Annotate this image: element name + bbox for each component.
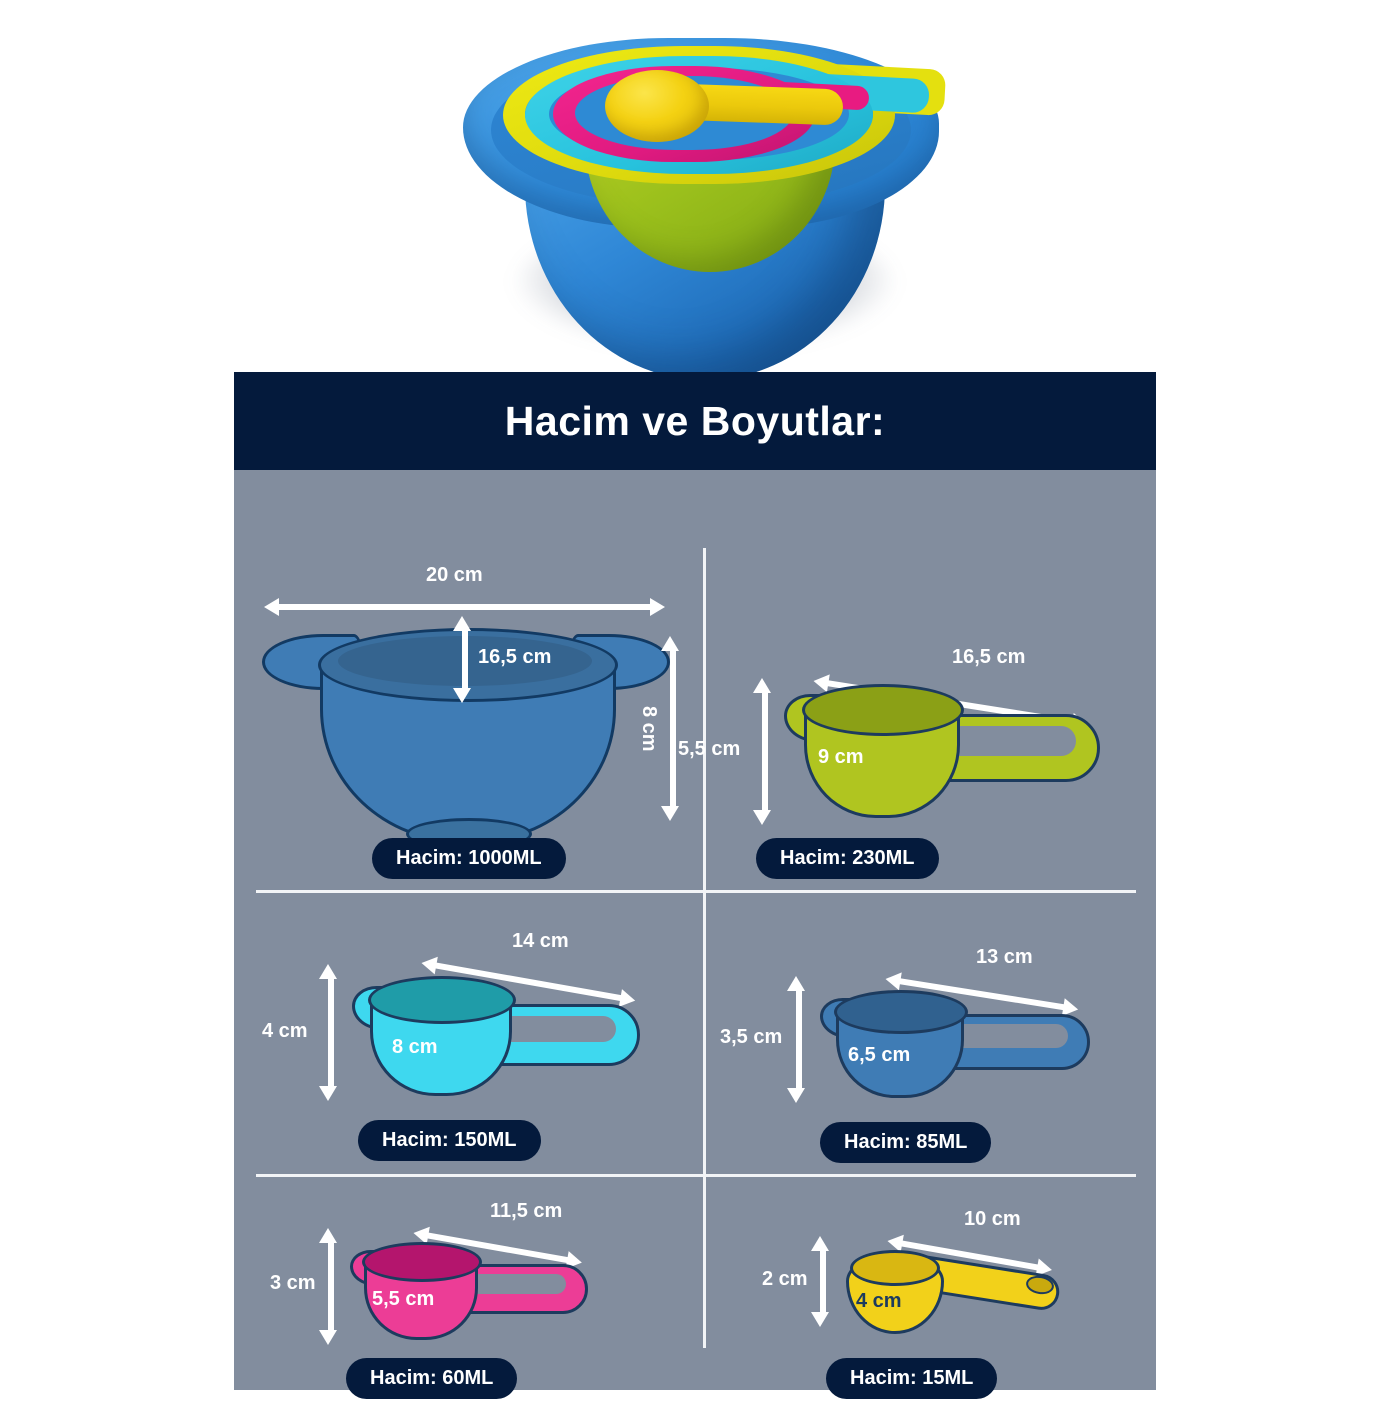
badge-volume-150ml: Hacim: 150ML xyxy=(358,1120,541,1161)
label-diameter-4cm: 4 cm xyxy=(856,1290,902,1313)
arrow-height-head-down xyxy=(661,806,679,821)
arrow-height-line xyxy=(820,1248,826,1314)
label-height-55cm: 5,5 cm xyxy=(678,738,740,761)
grid-divider-horizontal-1 xyxy=(256,890,1136,893)
photo-spoon-bowl xyxy=(605,70,709,142)
label-length-14cm: 14 cm xyxy=(512,930,569,953)
dimensions-grid: 20 cm 16,5 cm 8 cm xyxy=(234,470,1156,1390)
label-length-13cm: 13 cm xyxy=(976,946,1033,969)
cell-bowl-1000ml: 20 cm 16,5 cm 8 cm xyxy=(256,566,696,886)
arrow-height-line xyxy=(670,648,676,808)
arrow-inner-head-down xyxy=(453,688,471,703)
label-height-35cm: 3,5 cm xyxy=(720,1026,782,1049)
cup-rim xyxy=(834,990,968,1034)
cell-cup-85ml: 13 cm 3,5 cm 6,5 cm Hacim: 85ML xyxy=(744,946,1144,1176)
label-diameter-65cm: 6,5 cm xyxy=(848,1044,910,1067)
label-height-3cm: 3 cm xyxy=(270,1272,316,1295)
cup-handle-hole xyxy=(946,1024,1068,1048)
label-diameter-9cm: 9 cm xyxy=(818,746,864,769)
badge-volume-15ml: Hacim: 15ML xyxy=(826,1358,997,1399)
cup-rim xyxy=(368,976,516,1024)
arrow-height-head-down xyxy=(319,1086,337,1101)
badge-volume-230ml: Hacim: 230ML xyxy=(756,838,939,879)
arrow-height-line xyxy=(328,1240,334,1332)
label-length-10cm: 10 cm xyxy=(964,1208,1021,1231)
cup-rim xyxy=(802,684,964,736)
panel-title: Hacim ve Boyutlar: xyxy=(505,398,885,445)
spoon-bowl-rim xyxy=(850,1250,940,1286)
arrow-height-line xyxy=(328,976,334,1088)
badge-volume-85ml: Hacim: 85ML xyxy=(820,1122,991,1163)
label-height-2cm: 2 cm xyxy=(762,1268,808,1291)
label-height-8cm: 8 cm xyxy=(637,706,660,752)
cup-rim xyxy=(362,1242,482,1282)
cell-cup-60ml: 11,5 cm 3 cm 5,5 cm Hacim: 60ML xyxy=(278,1202,678,1402)
label-diameter-55cm: 5,5 cm xyxy=(372,1288,434,1311)
arrow-height-line xyxy=(762,690,768,812)
arrow-height-head-up xyxy=(319,964,337,979)
arrow-height-head-up xyxy=(811,1236,829,1251)
arrow-height-head-down xyxy=(811,1312,829,1327)
label-inner-165cm: 16,5 cm xyxy=(478,646,551,669)
cell-cup-230ml: 16,5 cm 5,5 cm 9 cm Hacim: 230ML xyxy=(726,620,1136,890)
arrow-inner-line xyxy=(462,628,468,690)
nested-bowl-set-illustration xyxy=(425,10,965,360)
arrow-inner-head-up xyxy=(453,616,471,631)
grid-divider-vertical xyxy=(703,548,706,1348)
badge-volume-1000ml: Hacim: 1000ML xyxy=(372,838,566,879)
label-length-165cm: 16,5 cm xyxy=(952,646,1025,669)
arrow-height-head-down xyxy=(787,1088,805,1103)
arrow-height-head-up xyxy=(661,636,679,651)
label-height-4cm: 4 cm xyxy=(262,1020,308,1043)
arrow-height-head-up xyxy=(753,678,771,693)
cell-cup-150ml: 14 cm 4 cm 8 cm Hacim: 150ML xyxy=(274,928,694,1178)
badge-volume-60ml: Hacim: 60ML xyxy=(346,1358,517,1399)
arrow-height-head-down xyxy=(319,1330,337,1345)
arrow-height-head-up xyxy=(787,976,805,991)
cell-spoon-15ml: 10 cm 2 cm 4 cm Hacim: 15ML xyxy=(778,1210,1148,1400)
label-length-115cm: 11,5 cm xyxy=(490,1200,562,1223)
label-diameter-8cm: 8 cm xyxy=(392,1036,438,1059)
dimensions-panel: Hacim ve Boyutlar: 20 cm xyxy=(234,372,1156,1390)
arrow-height-head-up xyxy=(319,1228,337,1243)
arrow-height-head-down xyxy=(753,810,771,825)
arrow-height-line xyxy=(796,988,802,1090)
panel-header: Hacim ve Boyutlar: xyxy=(234,372,1156,470)
product-photo-area xyxy=(0,0,1390,372)
bowl-artwork-1000ml xyxy=(256,566,676,866)
